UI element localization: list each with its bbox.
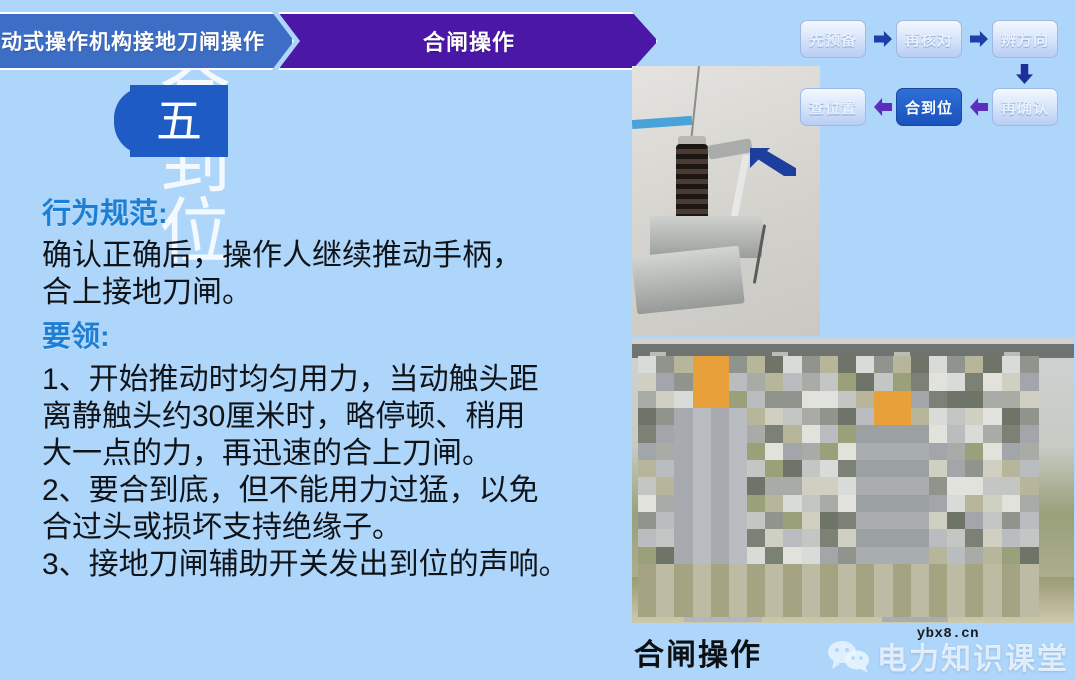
banner-segment-topic: 动式操作机构接地刀闸操作 [0,12,294,70]
wechat-icon [827,639,871,673]
key-point-line: 合过头或损坏支持绝缘子。 [42,509,627,546]
key-point-line: 离静触头约30厘米时，略停顿、稍用 [42,398,627,435]
heading-behavior: 行为规范: [42,198,627,231]
flow-step-label: 辨方向 [1001,29,1049,50]
title-banner: 动式操作机构接地刀闸操作 合闸操作 [0,12,658,70]
flow-step-6[interactable]: 查位置 [800,88,866,126]
key-points-paragraph: 1、开始推动时均匀用力，当动触头距 离静触头约30厘米时，略停顿、稍用 大一点的… [42,361,627,583]
flow-step-2[interactable]: 再核对 [896,20,962,58]
banner-segment-current-step: 合闸操作 [278,12,658,70]
brand-name-label: 电力知识课堂 [877,634,1069,678]
key-point-line: 大一点的力，再迅速的合上刀闸。 [42,435,627,472]
flow-step-1[interactable]: 先预备 [800,20,866,58]
heading-key-points: 要领: [42,321,627,354]
behavior-paragraph: 确认正确后，操作人继续推动手柄， 合上接地刀闸。 [42,237,627,311]
key-point-line: 1、开始推动时均匀用力，当动触头距 [42,361,627,398]
flow-arrow-right-icon [874,31,892,47]
key-point-line: 2、要合到底，但不能用力过猛，以免 [42,472,627,509]
process-flow-diagram: 先预备 再核对 辨方向 再确认 合到位 查位置 [800,12,1068,132]
flow-arrow-down-icon [1016,64,1033,84]
flow-step-label: 先预备 [809,29,857,50]
photo-insulator [676,144,708,220]
photo-grounding-switch [632,66,820,336]
flow-step-label: 再核对 [905,29,953,50]
flow-step-5-current[interactable]: 合到位 [896,88,962,126]
photo-field-operation [632,338,1074,623]
flow-arrow-left-icon [970,98,988,116]
slide-canvas: 合 到 位 动式操作机构接地刀闸操作 合闸操作 五 行为规范: 确认正确后，操作… [0,0,1075,680]
banner-topic-label: 动式操作机构接地刀闸操作 [1,26,265,56]
pointer-arrow-icon [750,148,798,178]
banner-current-step-label: 合闸操作 [423,25,515,57]
content-text-column: 行为规范: 确认正确后，操作人继续推动手柄， 合上接地刀闸。 要领: 1、开始推… [42,198,627,585]
flow-arrow-right-icon [970,31,988,47]
brand-watermark: 电力知识课堂 [827,634,1069,678]
flow-arrow-left-icon [874,98,892,116]
key-point-line: 3、接地刀闸辅助开关发出到位的声响。 [42,546,627,583]
flow-step-3[interactable]: 辨方向 [992,20,1058,58]
step-number-badge: 五 [130,85,228,157]
flow-step-label: 合到位 [905,97,953,118]
flow-step-4[interactable]: 再确认 [992,88,1058,126]
flow-step-label: 再确认 [1001,97,1049,118]
photo-mosaic-overlay [638,356,1038,616]
photo-caption: 合闸操作 [634,630,762,674]
badge-number-label: 五 [156,98,202,144]
behavior-line: 合上接地刀闸。 [42,274,627,311]
photo-mechanism-box [632,246,745,315]
behavior-line: 确认正确后，操作人继续推动手柄， [42,237,627,274]
flow-step-label: 查位置 [809,97,857,118]
